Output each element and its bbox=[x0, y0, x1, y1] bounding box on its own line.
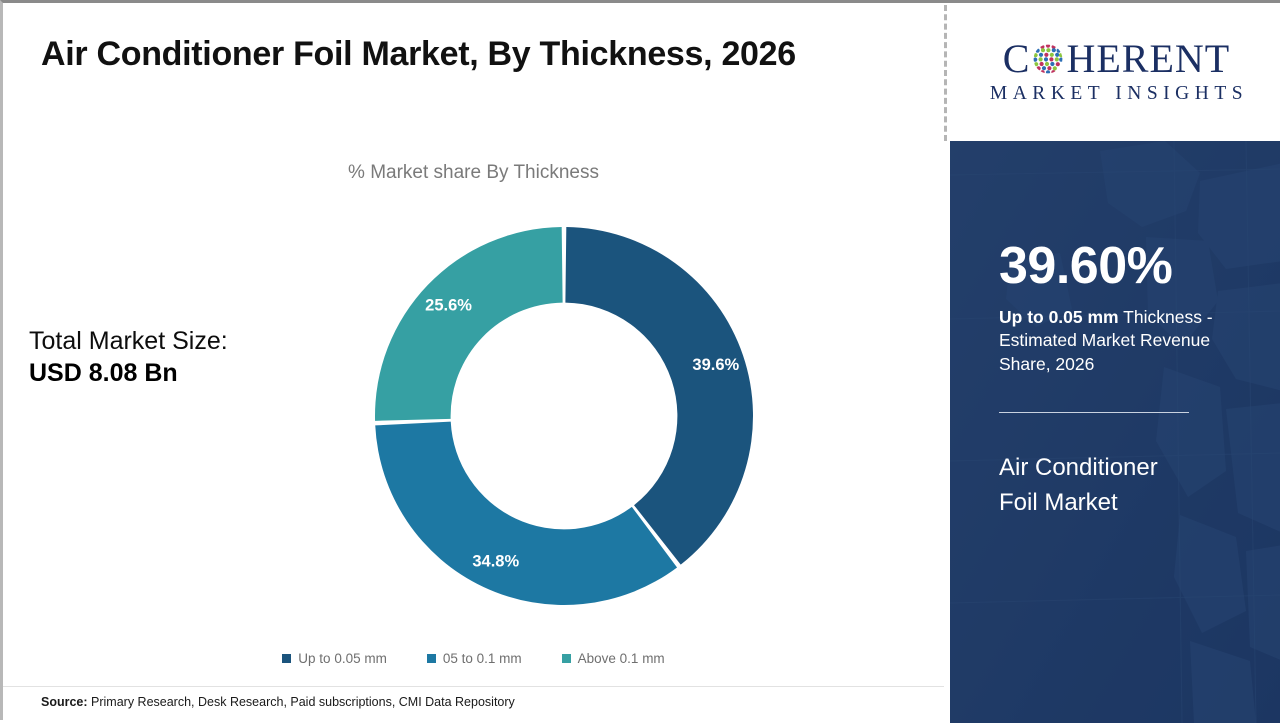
source-note: Source: Primary Research, Desk Research,… bbox=[41, 695, 515, 709]
stat-percentage: 39.60% bbox=[999, 240, 1274, 292]
legend-swatch-icon bbox=[427, 654, 436, 663]
brand-logo: C bbox=[950, 3, 1280, 141]
legend-swatch-icon bbox=[282, 654, 291, 663]
slide-root: Air Conditioner Foil Market, By Thicknes… bbox=[0, 0, 1280, 720]
chart-legend: Up to 0.05 mm05 to 0.1 mmAbove 0.1 mm bbox=[3, 651, 944, 666]
chart-subtitle: % Market share By Thickness bbox=[3, 162, 944, 184]
logo-wordmark: C bbox=[1003, 39, 1230, 79]
donut-chart-svg: 39.6%34.8%25.6% bbox=[373, 225, 755, 607]
legend-item[interactable]: Above 0.1 mm bbox=[562, 651, 665, 666]
donut-slice[interactable] bbox=[375, 422, 677, 605]
donut-slice[interactable] bbox=[565, 227, 753, 565]
legend-label: Above 0.1 mm bbox=[578, 651, 665, 666]
donut-slice-label: 39.6% bbox=[692, 356, 739, 374]
source-text: Primary Research, Desk Research, Paid su… bbox=[88, 695, 515, 709]
total-market-size-label: Total Market Size: bbox=[29, 325, 329, 357]
legend-swatch-icon bbox=[562, 654, 571, 663]
donut-slice[interactable] bbox=[375, 227, 563, 421]
legend-item[interactable]: Up to 0.05 mm bbox=[282, 651, 387, 666]
info-panel-body: 39.60% Up to 0.05 mm Thickness - Estimat… bbox=[950, 141, 1280, 723]
chart-panel: Air Conditioner Foil Market, By Thicknes… bbox=[3, 3, 944, 723]
legend-item[interactable]: 05 to 0.1 mm bbox=[427, 651, 522, 666]
panel-dashed-divider bbox=[944, 5, 947, 141]
donut-chart: 39.6%34.8%25.6% bbox=[373, 225, 755, 607]
market-name-line-1: Air Conditioner bbox=[999, 451, 1274, 486]
globe-dots-icon bbox=[1031, 42, 1065, 76]
stat-description-highlight: Up to 0.05 mm bbox=[999, 307, 1119, 327]
total-market-size-block: Total Market Size: USD 8.08 Bn bbox=[29, 325, 329, 389]
stat-description: Up to 0.05 mm Thickness - Estimated Mark… bbox=[999, 306, 1257, 376]
market-name-line-2: Foil Market bbox=[999, 486, 1274, 521]
donut-slice-label: 34.8% bbox=[472, 553, 519, 571]
legend-label: 05 to 0.1 mm bbox=[443, 651, 522, 666]
legend-label: Up to 0.05 mm bbox=[298, 651, 387, 666]
source-label: Source: bbox=[41, 695, 88, 709]
logo-tagline: MARKET INSIGHTS bbox=[985, 83, 1248, 105]
info-panel: C bbox=[950, 3, 1280, 723]
page-title: Air Conditioner Foil Market, By Thicknes… bbox=[41, 35, 921, 74]
info-panel-content: 39.60% Up to 0.05 mm Thickness - Estimat… bbox=[999, 141, 1274, 520]
donut-slice-group bbox=[375, 227, 753, 605]
source-divider bbox=[3, 686, 944, 687]
logo-word-part-2: HERENT bbox=[1066, 39, 1230, 79]
panel-divider bbox=[999, 412, 1189, 413]
logo-word-part-1: C bbox=[1003, 39, 1031, 79]
market-name: Air Conditioner Foil Market bbox=[999, 451, 1274, 521]
donut-slice-label: 25.6% bbox=[425, 296, 472, 314]
total-market-size-value: USD 8.08 Bn bbox=[29, 357, 329, 389]
